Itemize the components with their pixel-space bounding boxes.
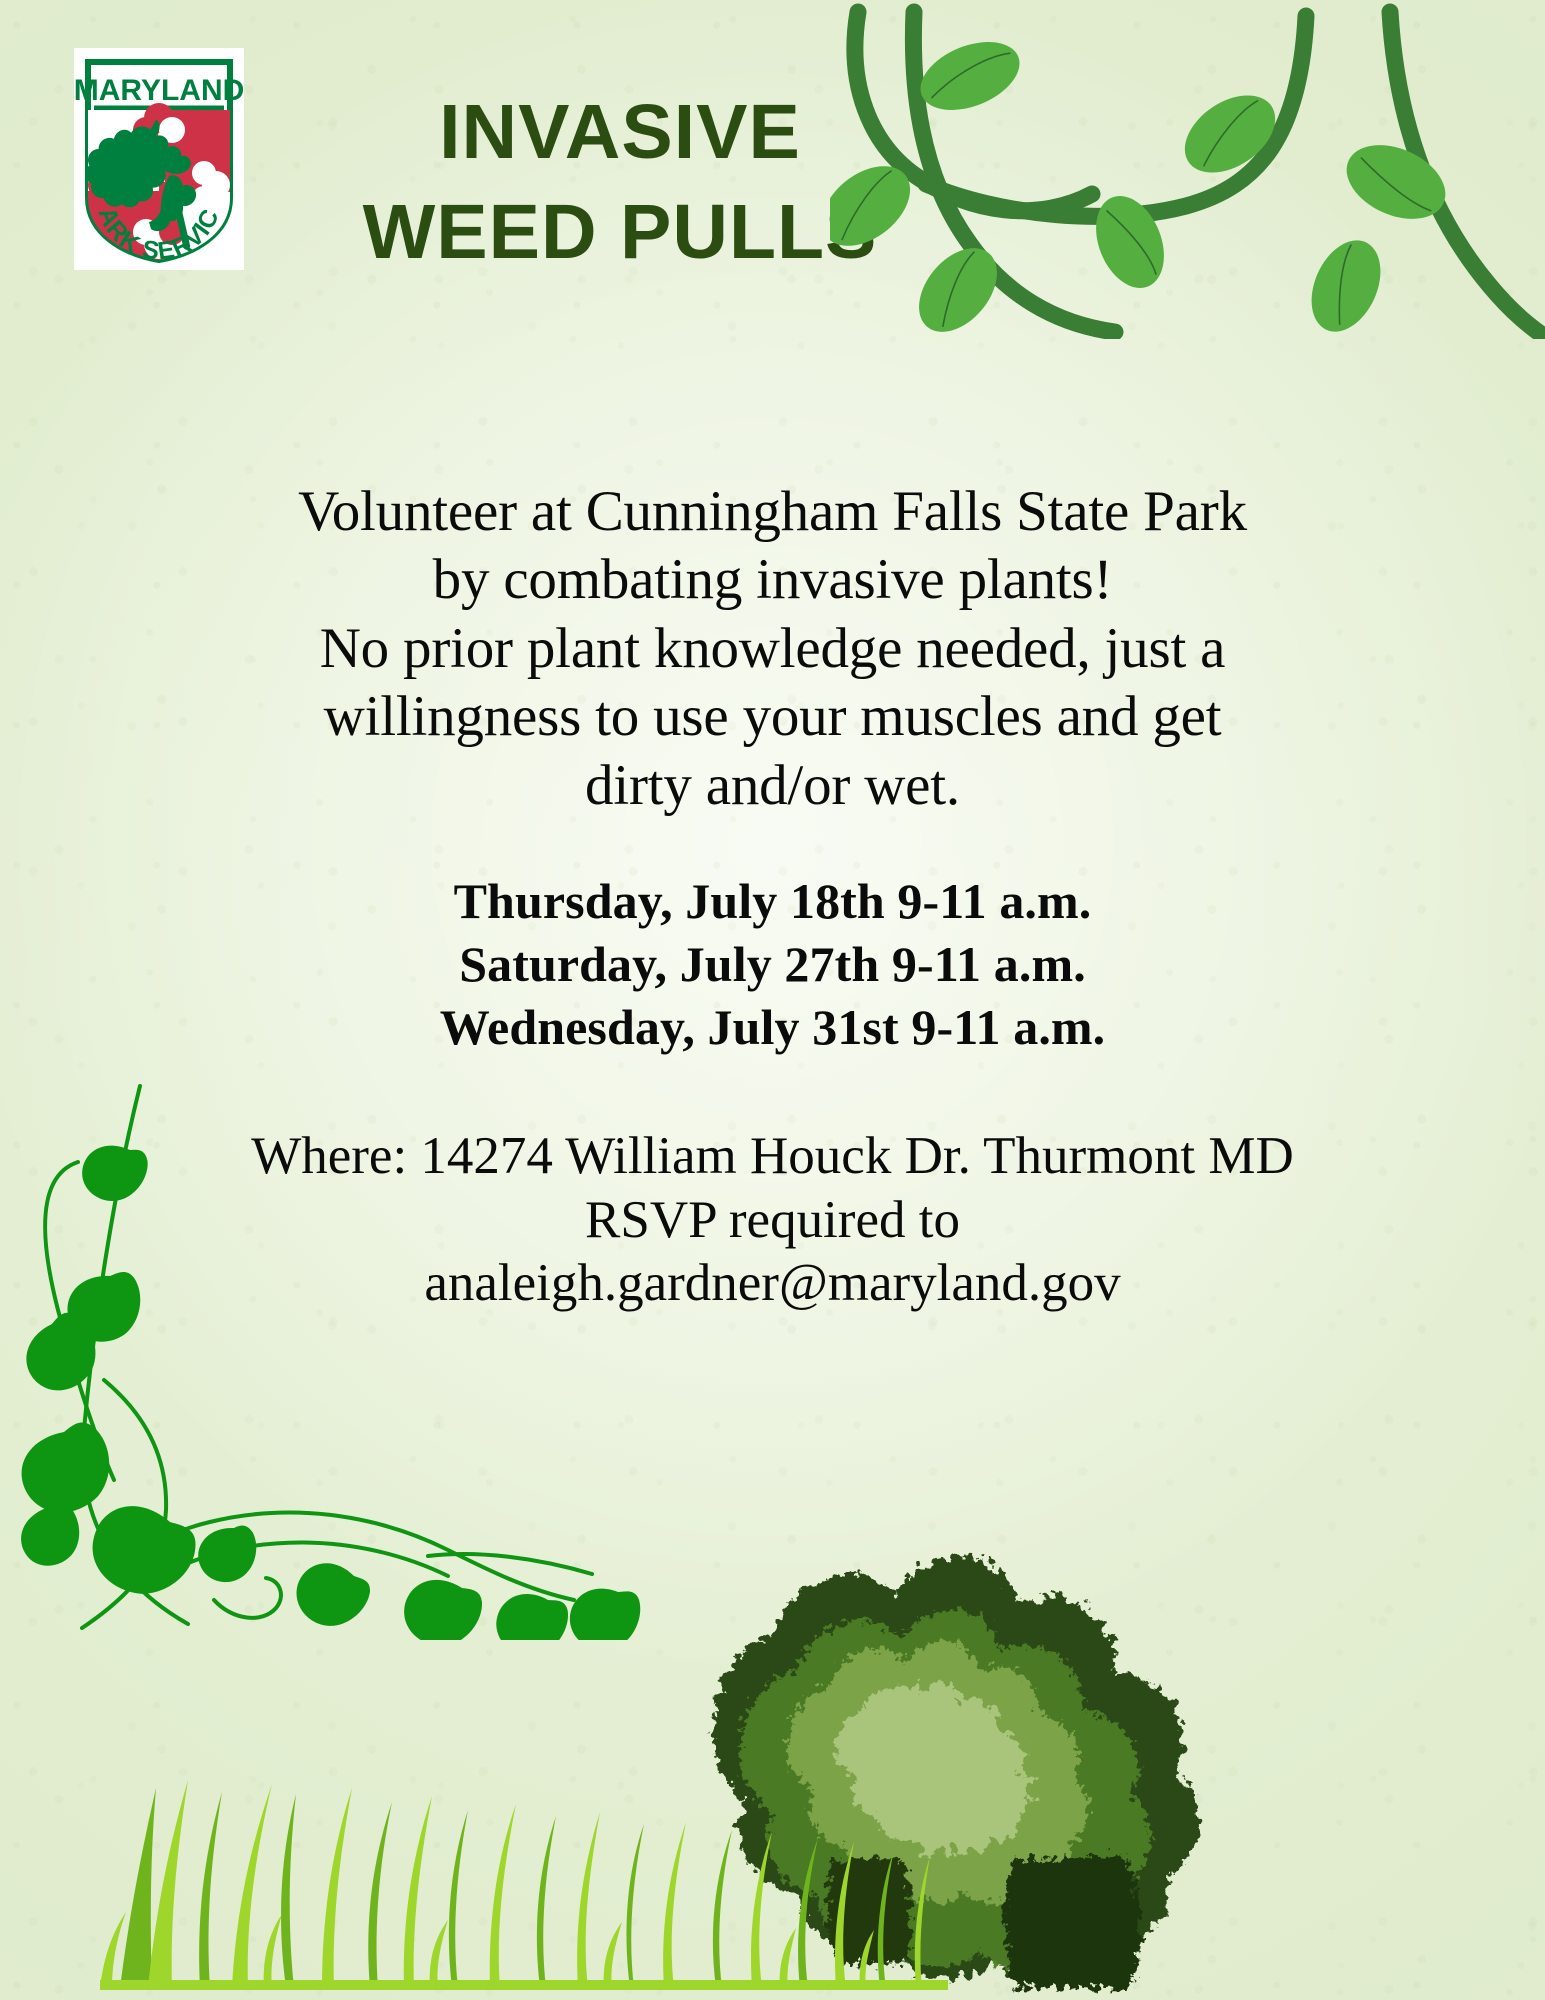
intro-line-3: No prior plant knowledge needed, just a: [48, 615, 1497, 683]
poster-canvas: MARYLAND: [0, 0, 1545, 2000]
intro-paragraph: Volunteer at Cunningham Falls State Park…: [48, 478, 1497, 820]
event-date-2: Saturday, July 27th 9-11 a.m.: [48, 933, 1497, 996]
event-date-1: Thursday, July 18th 9-11 a.m.: [48, 870, 1497, 933]
intro-line-5: dirty and/or wet.: [48, 752, 1497, 820]
intro-line-4: willingness to use your muscles and get: [48, 683, 1497, 751]
intro-line-1: Volunteer at Cunningham Falls State Park: [48, 478, 1497, 546]
intro-line-2: by combating invasive plants!: [48, 546, 1497, 614]
event-dates-list: Thursday, July 18th 9-11 a.m. Saturday, …: [48, 870, 1497, 1059]
bottom-flora-illustration: [0, 1530, 1545, 2000]
park-service-badge-icon: MARYLAND: [74, 48, 244, 270]
vine-decoration-top-right: [830, 0, 1545, 339]
event-date-3: Wednesday, July 31st 9-11 a.m.: [48, 996, 1497, 1059]
shrub-illustration: [713, 1556, 1199, 1988]
maryland-park-service-logo: MARYLAND: [74, 48, 244, 270]
logo-top-text: MARYLAND: [74, 74, 244, 107]
